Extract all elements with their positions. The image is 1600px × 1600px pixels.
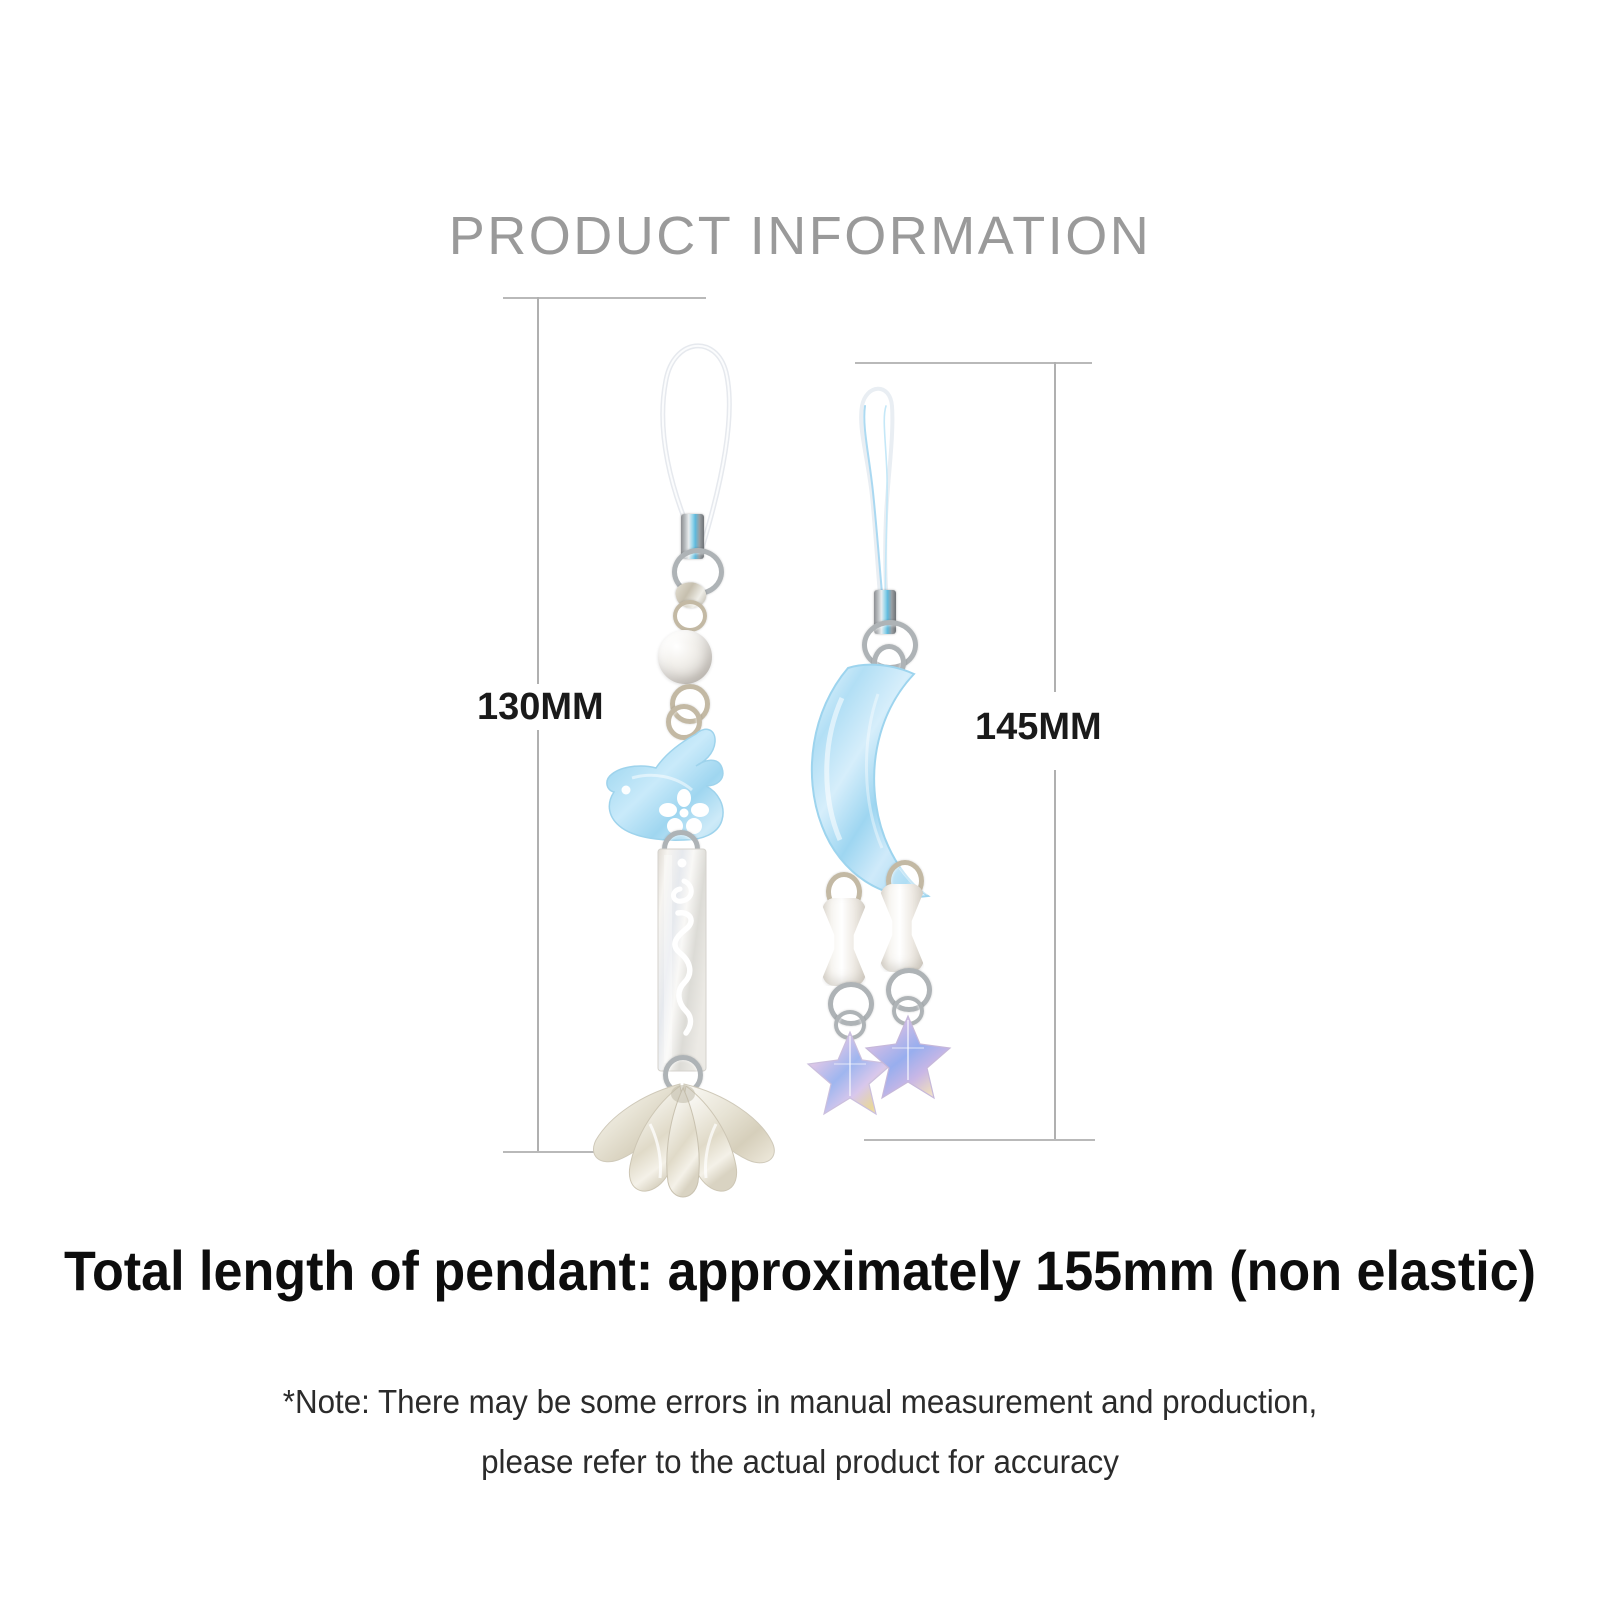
dimension-line-vertical-left-lower <box>537 727 539 1153</box>
clear-crystal-flower-charm <box>584 1068 784 1208</box>
white-opal-round-bead <box>658 630 712 684</box>
frosted-hourglass-bead-left <box>822 898 866 986</box>
page-title: PRODUCT INFORMATION <box>0 205 1600 267</box>
total-length-caption: Total length of pendant: approximately 1… <box>56 1238 1544 1303</box>
dimension-label-left: 130MM <box>471 684 610 730</box>
dimension-tick-top-left <box>503 297 706 299</box>
note-line-2: please refer to the actual product for a… <box>40 1443 1560 1481</box>
blue-iridescent-rabbit-charm <box>592 720 752 850</box>
blue-iridescent-crescent-moon-charm <box>796 658 976 908</box>
frosted-hourglass-bead-right <box>880 884 924 972</box>
dimension-line-vertical-right <box>1054 362 1056 692</box>
clasp-ring <box>673 600 707 632</box>
note-line-1: *Note: There may be some errors in manua… <box>40 1383 1560 1421</box>
iridescent-star-crystal-right <box>862 1010 954 1102</box>
blue-white-twisted-string-loop <box>820 366 940 626</box>
dimension-line-vertical-right-lower <box>1054 770 1056 1141</box>
dimension-line-vertical-left <box>537 297 539 687</box>
rabbit-charm-pendant[interactable] <box>600 300 800 1180</box>
pearl-bar-charm <box>650 845 720 1075</box>
moon-charm-pendant[interactable] <box>800 360 1020 1160</box>
